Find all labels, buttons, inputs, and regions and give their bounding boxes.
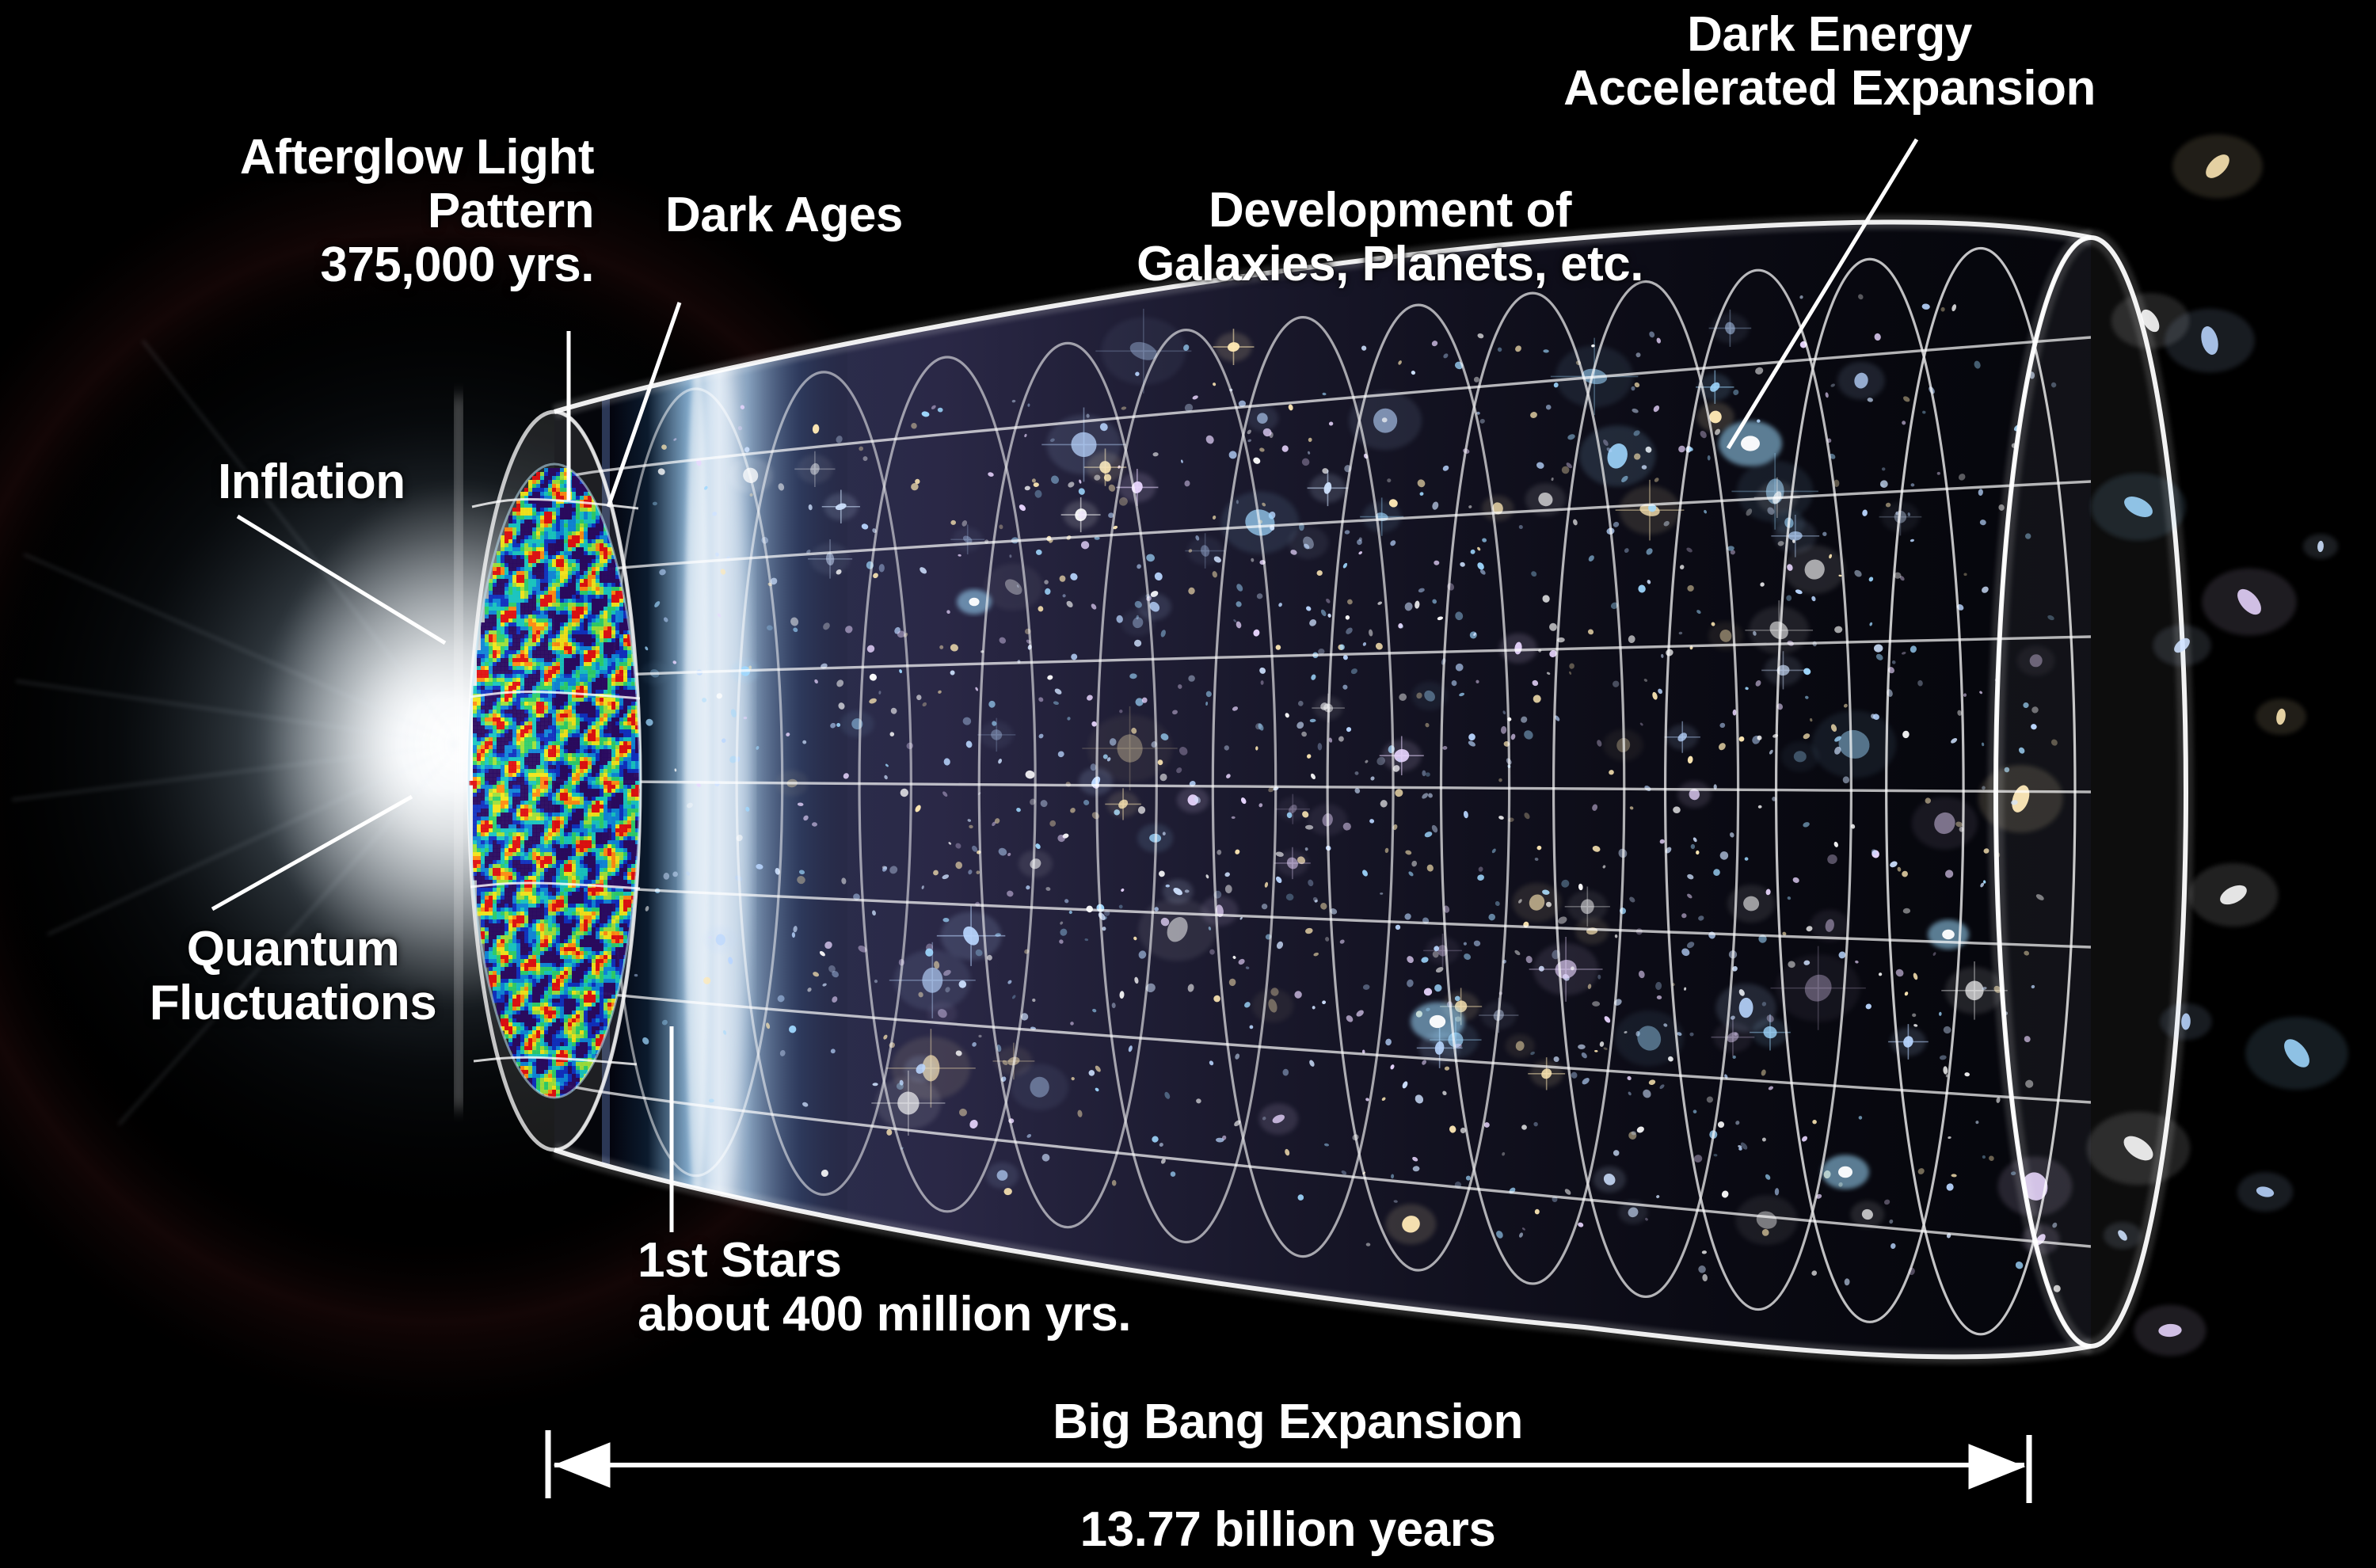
cmb-pixel <box>572 967 577 972</box>
cmb-pixel <box>512 999 517 1003</box>
cmb-pixel <box>520 622 525 627</box>
cmb-pixel <box>489 650 493 655</box>
cmb-pixel <box>572 757 577 762</box>
cmb-pixel <box>544 939 549 944</box>
cmb-pixel <box>497 963 501 968</box>
cmb-pixel <box>524 884 529 889</box>
cmb-pixel <box>548 991 553 995</box>
cmb-pixel <box>576 848 581 853</box>
galaxy <box>1776 702 1784 710</box>
cmb-pixel <box>516 999 521 1003</box>
cmb-pixel <box>576 1082 581 1087</box>
star-spike <box>1696 371 1734 405</box>
galaxy <box>1725 1029 1741 1045</box>
galaxy <box>1404 602 1414 612</box>
cmb-pixel <box>536 678 541 683</box>
cmb-pixel <box>516 721 521 726</box>
cmb-pixel <box>477 749 482 754</box>
cmb-pixel <box>481 737 485 742</box>
galaxy <box>1702 1274 1708 1282</box>
cmb-pixel <box>532 785 537 790</box>
cmb-pixel <box>540 868 545 873</box>
cmb-pixel <box>576 995 581 999</box>
galaxy-halo <box>1499 634 1536 664</box>
cmb-pixel <box>520 991 525 995</box>
cmb-pixel <box>512 630 517 635</box>
cmb-pixel <box>544 753 549 758</box>
galaxy <box>942 790 949 797</box>
cmb-pixel <box>516 785 521 790</box>
galaxy <box>634 974 638 977</box>
galaxy <box>1945 1182 1955 1193</box>
cmb-pixel <box>548 575 553 580</box>
cmb-pixel <box>568 1066 573 1071</box>
galaxy <box>661 1019 668 1026</box>
cmb-pixel <box>528 587 533 592</box>
star-spike <box>1616 480 1685 541</box>
cmb-pixel <box>477 864 482 869</box>
cmb-pixel <box>556 476 561 481</box>
cmb-pixel <box>540 943 545 948</box>
cmb-pixel <box>493 702 497 706</box>
cmb-pixel <box>485 923 489 928</box>
cmb-pixel <box>540 1082 545 1087</box>
cmb-pixel <box>473 753 478 758</box>
galaxy <box>936 1007 949 1020</box>
cmb-pixel <box>540 983 545 988</box>
cmb-pixel <box>572 1062 577 1067</box>
cmb-pixel <box>560 805 565 809</box>
cmb-pixel <box>512 1022 517 1027</box>
cmb-pixel <box>497 1007 501 1011</box>
cmb-pixel <box>512 939 517 944</box>
star-spike <box>886 1029 976 1107</box>
cmb-pixel <box>576 975 581 980</box>
galaxy <box>1285 712 1290 718</box>
cmb-pixel <box>552 694 557 698</box>
galaxy <box>1568 663 1574 670</box>
star-spike <box>1529 937 1603 1002</box>
cmb-pixel <box>560 1082 565 1087</box>
cmb-pixel <box>568 943 573 948</box>
cmb-pixel <box>544 555 549 560</box>
cmb-pixel <box>568 630 573 635</box>
galaxy <box>1599 1041 1605 1048</box>
galaxy <box>1045 887 1051 892</box>
cmb-pixel <box>536 488 541 493</box>
cmb-pixel <box>536 931 541 936</box>
cmb-pixel <box>505 615 509 619</box>
galaxy <box>1899 575 1906 581</box>
galaxy <box>1157 759 1164 766</box>
cmb-pixel <box>532 1007 537 1011</box>
galaxy <box>950 520 956 525</box>
cmb-pixel <box>568 508 573 512</box>
galaxy <box>1181 459 1184 463</box>
cmb-pixel <box>489 741 493 746</box>
cmb-pixel <box>572 710 577 714</box>
cmb-pixel <box>548 682 553 687</box>
cmb-pixel <box>493 789 497 794</box>
cmb-pixel <box>520 638 525 643</box>
cmb-pixel <box>524 820 529 825</box>
galaxy <box>1561 972 1571 982</box>
cmb-pixel <box>493 638 497 643</box>
cmb-pixel <box>536 563 541 568</box>
cmb-pixel <box>528 547 533 552</box>
cmb-pixel <box>505 1034 509 1039</box>
cmb-pixel <box>540 559 545 564</box>
cmb-pixel <box>544 476 549 481</box>
cmb-pixel <box>540 939 545 944</box>
grid-longitude <box>554 885 2091 948</box>
cmb-pixel <box>520 527 525 532</box>
galaxy <box>1175 767 1183 774</box>
cmb-pixel <box>544 721 549 726</box>
cmb-pixel <box>505 646 509 651</box>
galaxy <box>1867 398 1873 402</box>
cmb-pixel <box>516 983 521 988</box>
cmb-pixel <box>505 797 509 801</box>
cmb-pixel <box>568 527 573 532</box>
cmb-pixel <box>552 745 557 750</box>
cmb-pixel <box>497 607 501 611</box>
galaxy <box>1812 1120 1817 1125</box>
cmb-pixel <box>540 1074 545 1079</box>
cmb-pixel <box>528 535 533 540</box>
cmb-pixel <box>489 852 493 857</box>
cmb-pixel <box>568 1058 573 1063</box>
cmb-pixel <box>508 603 513 607</box>
cmb-pixel <box>544 599 549 603</box>
galaxy <box>1224 872 1231 877</box>
cmb-pixel <box>564 947 569 952</box>
cmb-pixel <box>524 527 529 532</box>
grid-ring <box>1776 259 1964 1322</box>
cmb-pixel <box>544 618 549 623</box>
cmb-pixel <box>501 987 505 991</box>
cmb-pixel <box>532 630 537 635</box>
galaxy <box>1359 537 1363 541</box>
galaxy <box>1321 1000 1326 1005</box>
cmb-pixel <box>473 848 478 853</box>
galaxy <box>1322 467 1330 474</box>
galaxy <box>1160 629 1167 637</box>
galaxy <box>2029 371 2035 379</box>
cmb-pixel <box>481 630 485 635</box>
galaxy <box>1875 653 1884 661</box>
galaxy <box>1405 850 1412 855</box>
galaxy <box>1397 758 1402 763</box>
cmb-pixel <box>508 1010 513 1015</box>
galaxy-halo <box>704 927 738 953</box>
cmb-pixel <box>568 1082 573 1087</box>
cmb-pixel <box>564 519 569 524</box>
cmb-pixel <box>508 646 513 651</box>
cmb-pixel <box>576 618 581 623</box>
galaxy <box>727 957 733 965</box>
galaxy <box>722 1029 727 1035</box>
cmb-pixel <box>568 844 573 849</box>
cmb-pixel <box>548 591 553 596</box>
cmb-pixel <box>540 733 545 738</box>
cmb-pixel <box>536 583 541 588</box>
cmb-pixel <box>505 583 509 588</box>
cmb-pixel <box>473 876 478 881</box>
cmb-pixel <box>568 496 573 500</box>
galaxy <box>1267 786 1276 794</box>
cmb-pixel <box>540 801 545 805</box>
galaxy <box>1651 691 1658 700</box>
cmb-pixel <box>524 1007 529 1011</box>
cmb-pixel <box>532 919 537 924</box>
galaxy <box>1957 710 1963 716</box>
galaxy-halo <box>1781 741 1819 771</box>
cmb-pixel <box>576 607 581 611</box>
cmb-pixel <box>556 1007 561 1011</box>
cmb-pixel <box>572 733 577 738</box>
cmb-pixel <box>576 527 581 532</box>
cmb-pixel <box>477 900 482 904</box>
cmb-pixel <box>501 991 505 995</box>
cmb-pixel <box>489 698 493 702</box>
cmb-pixel <box>512 618 517 623</box>
galaxy <box>1750 734 1761 745</box>
galaxy <box>1479 418 1486 424</box>
cmb-pixel <box>560 967 565 972</box>
cmb-pixel <box>516 884 521 889</box>
cmb-pixel <box>540 979 545 984</box>
cmb-pixel <box>477 666 482 671</box>
galaxy <box>974 948 984 957</box>
galaxy <box>1677 1031 1683 1036</box>
galaxy-halo <box>1314 696 1343 719</box>
galaxy <box>961 535 973 545</box>
galaxy <box>1016 584 1019 588</box>
cmb-pixel <box>536 963 541 968</box>
cmb-pixel <box>516 797 521 801</box>
cmb-pixel <box>576 1074 581 1079</box>
cmb-pixel <box>528 971 533 976</box>
cmb-pixel <box>493 939 497 944</box>
cmb-pixel <box>572 721 577 726</box>
galaxy <box>1023 948 1030 954</box>
cmb-pixel <box>520 813 525 817</box>
cmb-pixel <box>544 975 549 980</box>
cmb-pixel <box>564 1010 569 1015</box>
cmb-pixel <box>473 868 478 873</box>
cmb-pixel <box>568 880 573 885</box>
cmb-pixel <box>576 717 581 722</box>
galaxy <box>1414 1093 1425 1105</box>
cmb-pixel <box>524 824 529 829</box>
cmb-pixel <box>552 915 557 920</box>
galaxy-halo <box>1011 1064 1068 1110</box>
galaxy <box>1536 845 1542 851</box>
cmb-pixel <box>548 1018 553 1023</box>
cmb-pixel <box>489 820 493 825</box>
galaxy <box>1917 679 1924 687</box>
cmb-pixel <box>548 706 553 710</box>
cmb-pixel <box>556 923 561 928</box>
cmb-pixel <box>508 559 513 564</box>
galaxy <box>1011 399 1015 402</box>
cmb-pixel <box>508 749 513 754</box>
cmb-pixel <box>540 571 545 576</box>
cmb-pixel <box>572 999 577 1003</box>
cmb-pixel <box>493 682 497 687</box>
cmb-pixel <box>485 682 489 687</box>
galaxy <box>1310 773 1316 780</box>
cmb-pixel <box>536 979 541 984</box>
cmb-pixel <box>485 805 489 809</box>
cmb-pixel <box>552 908 557 912</box>
cmb-pixel <box>501 908 505 912</box>
galaxy <box>1252 456 1262 465</box>
cmb-pixel <box>576 571 581 576</box>
cmb-pixel <box>505 749 509 754</box>
cmb-pixel <box>556 848 561 853</box>
cmb-pixel <box>512 789 517 794</box>
galaxy <box>1038 733 1044 739</box>
galaxy <box>1247 439 1252 443</box>
cmb-pixel <box>532 1022 537 1027</box>
cmb-pixel <box>493 824 497 829</box>
cmb-pixel <box>477 757 482 762</box>
cmb-pixel <box>548 1066 553 1071</box>
galaxy <box>1615 934 1618 938</box>
cmb-pixel <box>512 662 517 667</box>
galaxy <box>1639 502 1661 517</box>
galaxy <box>1322 702 1335 714</box>
cmb-pixel <box>536 1050 541 1055</box>
cmb-pixel <box>544 1046 549 1051</box>
cmb-pixel <box>512 943 517 948</box>
galaxy <box>866 561 874 569</box>
cmb-pixel <box>540 539 545 544</box>
galaxy <box>709 1098 714 1102</box>
cmb-pixel <box>485 662 489 667</box>
galaxy <box>1771 796 1777 802</box>
galaxy <box>1320 609 1327 618</box>
cmb-pixel <box>540 527 545 532</box>
cmb-pixel <box>489 745 493 750</box>
cmb-pixel <box>532 706 537 710</box>
cmb-pixel <box>516 749 521 754</box>
cmb-pixel <box>493 935 497 940</box>
galaxy <box>1578 883 1584 890</box>
cmb-pixel <box>540 630 545 635</box>
galaxy <box>1441 657 1447 665</box>
cmb-pixel <box>497 805 501 809</box>
cmb-pixel <box>516 955 521 960</box>
cmb-pixel <box>560 749 565 754</box>
cmb-pixel <box>516 539 521 544</box>
cmb-pixel <box>501 1007 505 1011</box>
cmb-pixel <box>536 725 541 730</box>
galaxy-halo <box>776 771 809 797</box>
cmb-pixel <box>540 935 545 940</box>
cmb-pixel <box>481 714 485 718</box>
cmb-pixel <box>520 959 525 964</box>
cmb-pixel <box>560 512 565 516</box>
cmb-pixel <box>552 979 557 984</box>
cmb-pixel <box>520 690 525 695</box>
cmb-pixel <box>552 896 557 900</box>
cmb-pixel <box>497 737 501 742</box>
cmb-pixel <box>540 991 545 995</box>
galaxy <box>769 577 779 586</box>
cmb-pixel <box>485 694 489 698</box>
galaxy <box>1389 539 1397 547</box>
cmb-pixel <box>572 670 577 675</box>
galaxy <box>1745 508 1753 517</box>
cmb-pixel <box>516 943 521 948</box>
cmb-pixel <box>576 963 581 968</box>
cmb-pixel <box>516 971 521 976</box>
cmb-pixel <box>508 979 513 984</box>
galaxy <box>958 1108 967 1117</box>
cmb-pixel <box>572 805 577 809</box>
galaxy <box>738 664 752 678</box>
cmb-pixel <box>520 947 525 952</box>
cmb-pixel <box>572 765 577 770</box>
cmb-pixel <box>568 884 573 889</box>
cmb-pixel <box>536 519 541 524</box>
cmb-pixel <box>560 1010 565 1015</box>
cmb-pixel <box>528 801 533 805</box>
cmb-pixel <box>528 991 533 995</box>
cmb-pixel <box>497 836 501 841</box>
cmb-pixel <box>520 793 525 797</box>
cmb-pixel <box>516 607 521 611</box>
cmb-pixel <box>544 868 549 873</box>
galaxy <box>1324 936 1329 942</box>
cmb-pixel <box>544 527 549 532</box>
galaxy <box>1445 581 1455 592</box>
cmb-pixel <box>473 745 478 750</box>
star-spike <box>1761 651 1805 689</box>
cmb-pixel <box>568 864 573 869</box>
cmb-pixel <box>576 733 581 738</box>
cmb-pixel <box>536 634 541 639</box>
cmb-pixel <box>516 745 521 750</box>
cmb-pixel <box>536 1058 541 1063</box>
cmb-pixel <box>512 527 517 532</box>
cmb-pixel <box>548 785 553 790</box>
cmb-pixel <box>497 559 501 564</box>
galaxy <box>1300 810 1310 820</box>
cmb-pixel <box>528 1003 533 1007</box>
galaxy <box>1308 437 1312 442</box>
cmb-pixel <box>512 547 517 552</box>
galaxy <box>712 511 718 516</box>
galaxy <box>991 821 996 827</box>
cmb-pixel <box>556 797 561 801</box>
galaxy <box>1445 1066 1450 1071</box>
cmb-pixel <box>524 1003 529 1007</box>
cmb-pixel <box>552 999 557 1003</box>
cmb-pixel <box>532 911 537 916</box>
cmb-pixel <box>572 1086 577 1090</box>
cmb-pixel <box>485 935 489 940</box>
galaxy <box>1284 1148 1290 1156</box>
galaxy <box>1325 598 1331 604</box>
cmb-pixel <box>501 983 505 988</box>
cmb-pixel <box>560 769 565 774</box>
cmb-pixel <box>548 836 553 841</box>
cmb-pixel <box>508 615 513 619</box>
